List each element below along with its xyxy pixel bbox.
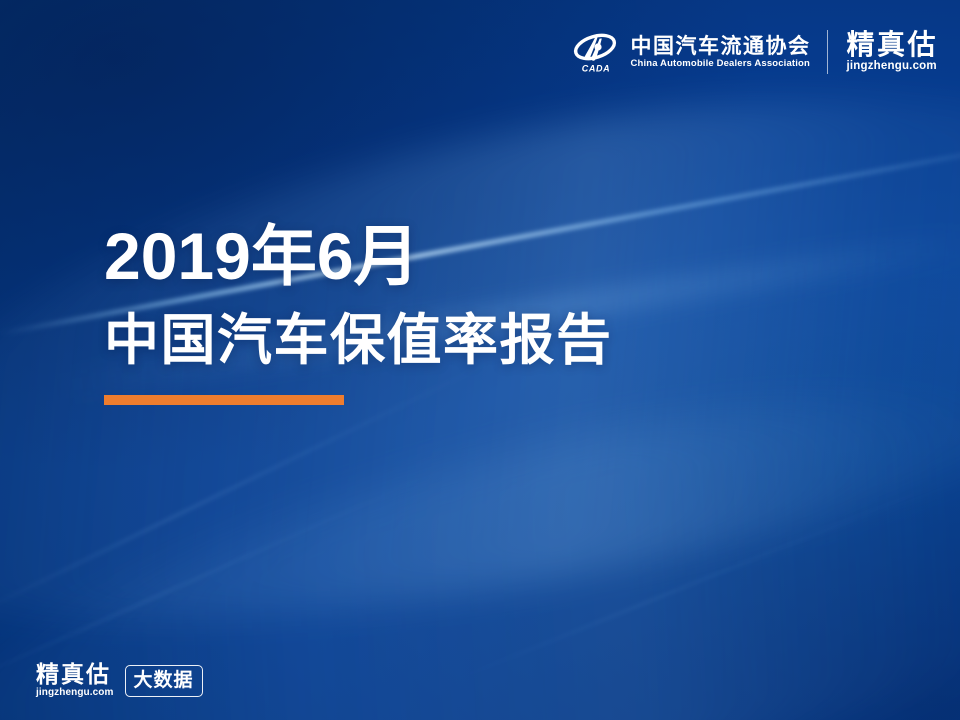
cada-name-cn: 中国汽车流通协会 bbox=[630, 36, 810, 57]
cada-logo: CADA 中国汽车流通协会 China Automobile Dealers A… bbox=[571, 30, 827, 74]
logo-divider bbox=[827, 30, 828, 74]
cada-wordmark: 中国汽车流通协会 China Automobile Dealers Associ… bbox=[630, 36, 810, 69]
bigdata-badge: 大数据 bbox=[125, 665, 203, 697]
footer-brand-cn: 精真估 bbox=[36, 663, 114, 686]
jingzhengu-domain: jingzhengu.com bbox=[846, 61, 936, 73]
jingzhengu-name-cn: 精真估 bbox=[846, 31, 938, 59]
cada-name-en: China Automobile Dealers Association bbox=[630, 59, 810, 69]
cada-mark-text: CADA bbox=[582, 64, 610, 74]
title-year-line: 2019年6月 bbox=[104, 222, 613, 291]
footer-wordmark: 精真估 jingzhengu.com bbox=[36, 663, 114, 698]
page-title: 中国汽车保值率报告 bbox=[104, 311, 613, 369]
header-logos: CADA 中国汽车流通协会 China Automobile Dealers A… bbox=[571, 30, 938, 74]
title-block: 2019年6月 中国汽车保值率报告 bbox=[104, 222, 613, 405]
title-slide: CADA 中国汽车流通协会 China Automobile Dealers A… bbox=[0, 0, 960, 720]
footer-brand-domain: jingzhengu.com bbox=[36, 688, 114, 698]
footer-logo: 精真估 jingzhengu.com 大数据 bbox=[36, 663, 203, 698]
cada-emblem-icon: CADA bbox=[571, 30, 621, 74]
jingzhengu-logo: 精真估 jingzhengu.com bbox=[846, 31, 938, 73]
title-underline-rule bbox=[104, 395, 344, 405]
